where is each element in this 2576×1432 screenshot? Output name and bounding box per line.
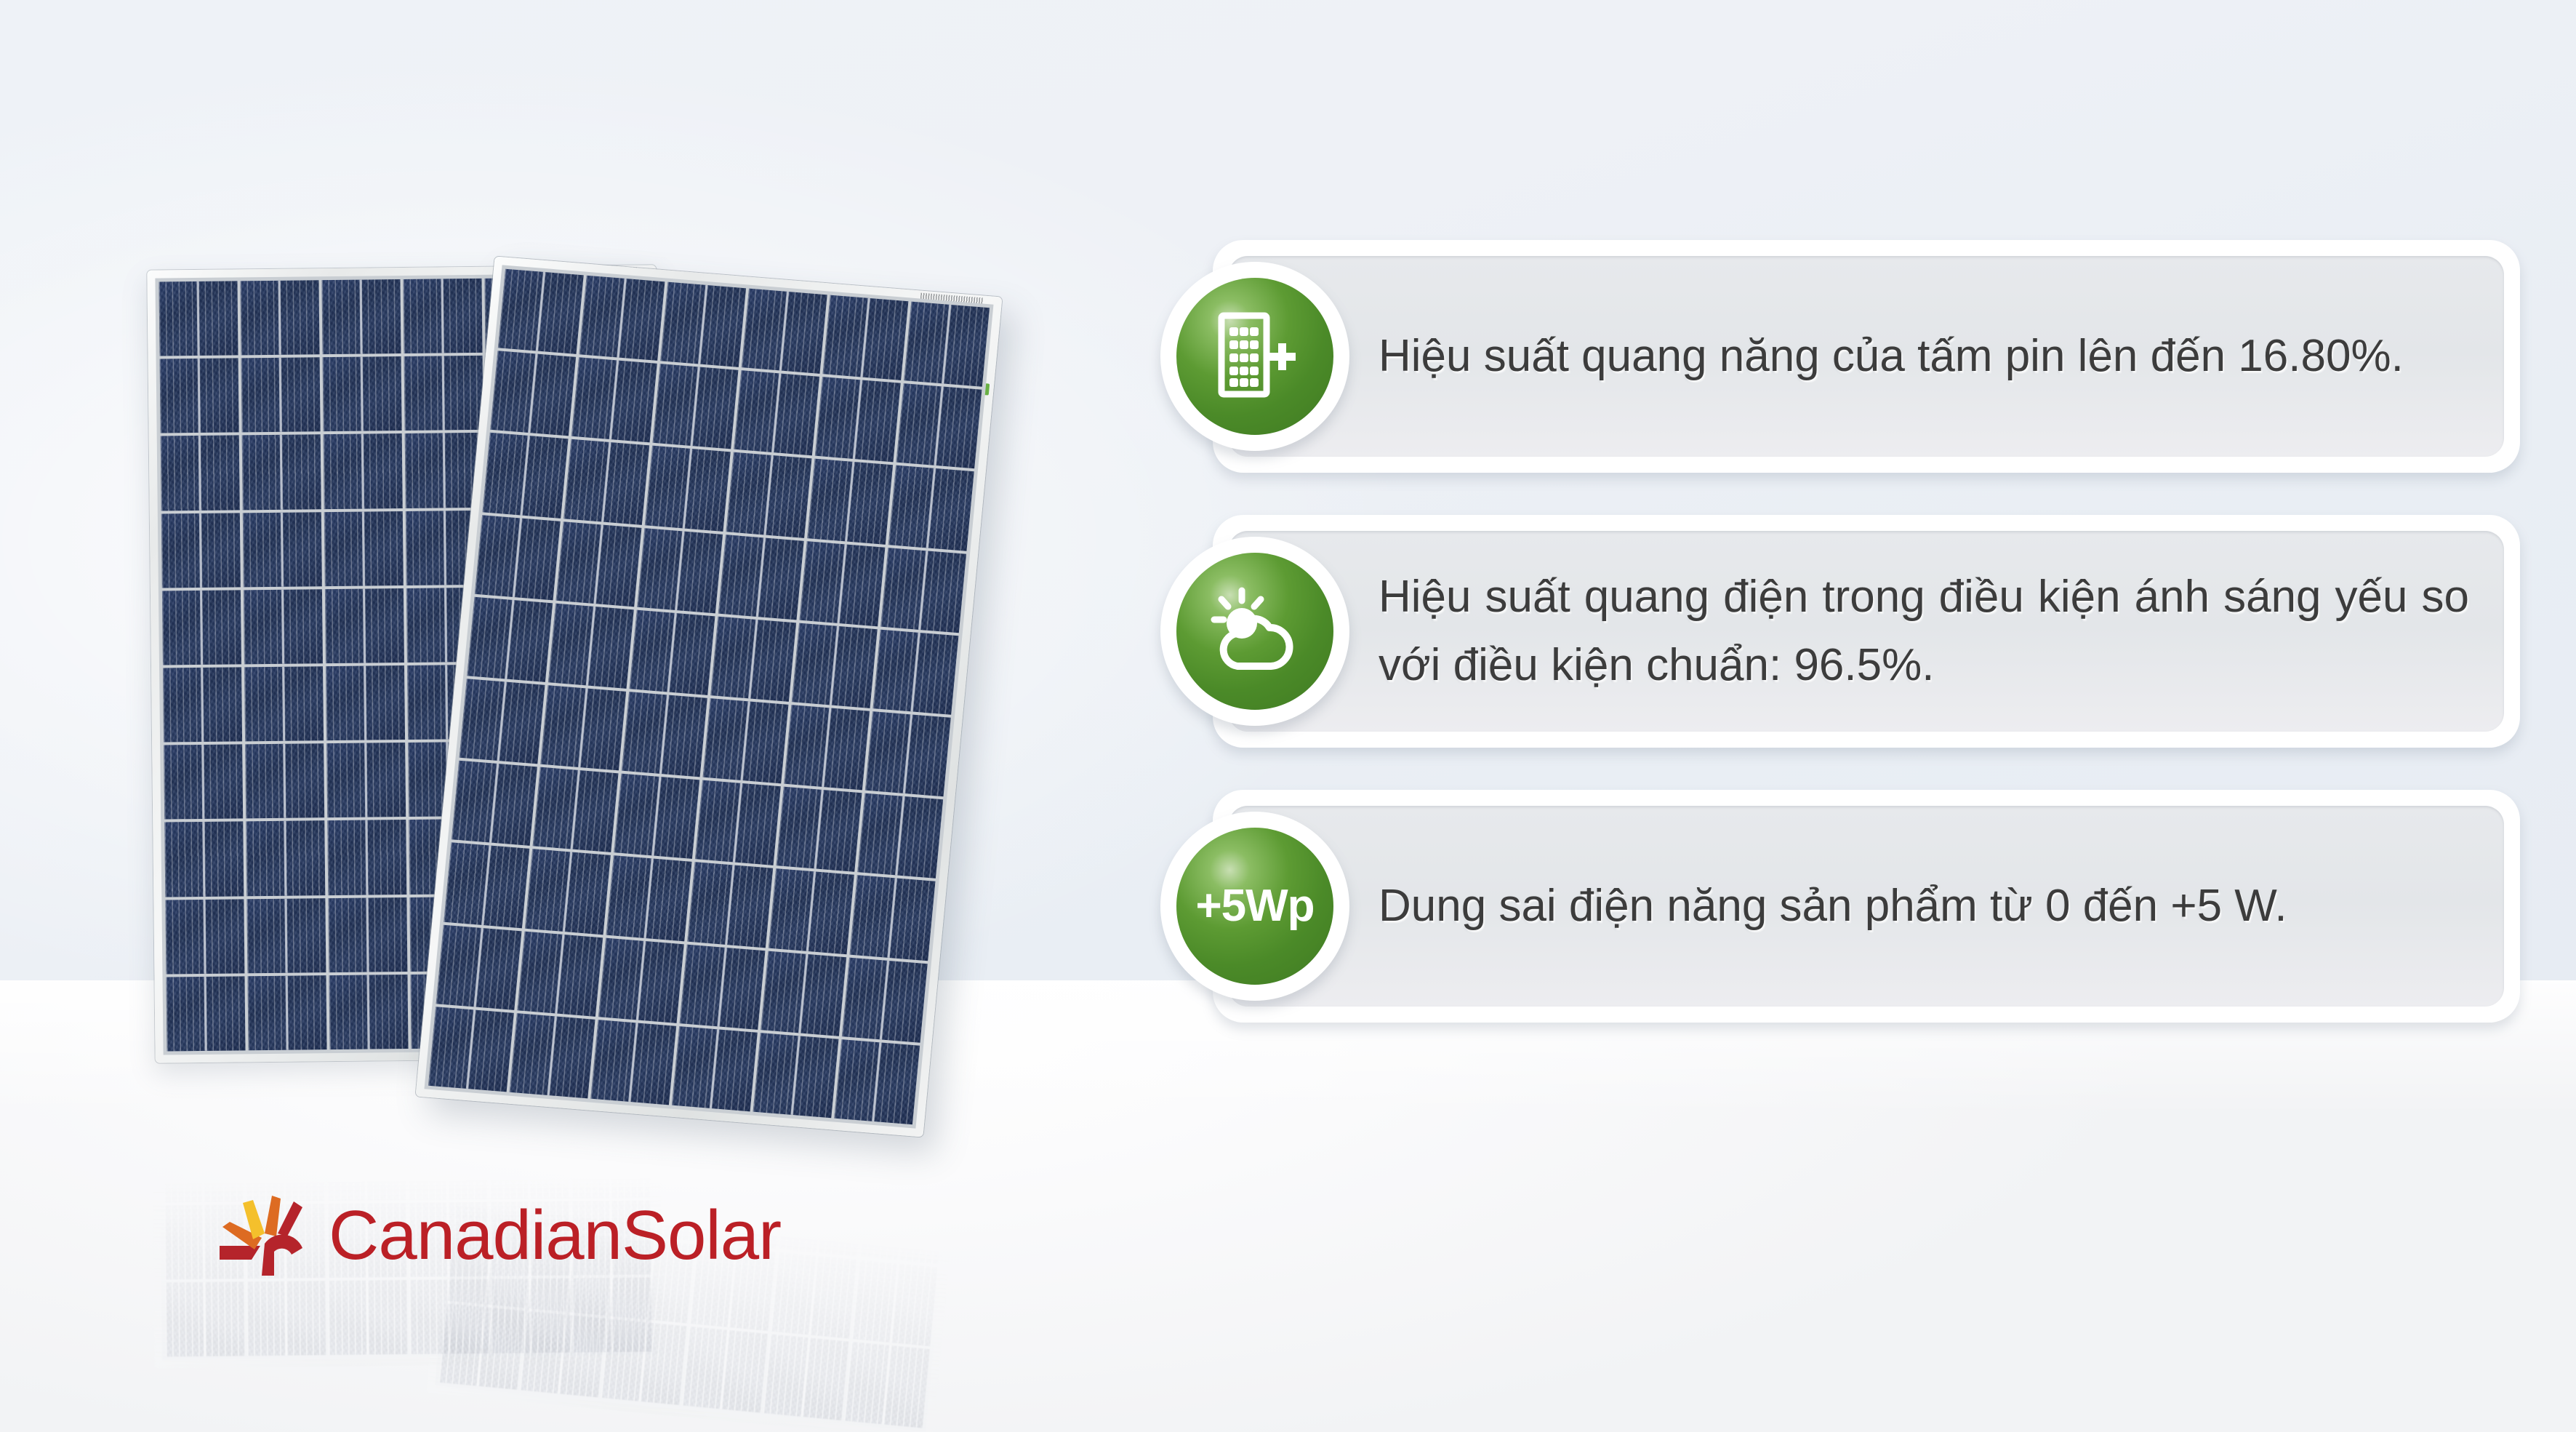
solar-cell [842,957,928,1042]
sun-behind-cloud-icon [1208,585,1301,678]
brand-wordmark: CanadianSolar [329,1201,781,1271]
solar-cell [680,944,766,1029]
solar-cell [517,931,603,1016]
solar-cell [807,459,893,544]
solar-cell [703,698,789,783]
solar-cell [687,863,773,948]
solar-cell [325,588,404,663]
solar-cell [525,849,611,935]
solar-cell [822,295,908,380]
solar-cell [164,745,243,820]
solar-cell [428,1007,514,1092]
solar-cell [606,856,692,941]
solar-cell [857,793,943,879]
brand-logo: CanadianSolar [218,1193,781,1279]
solar-cell [571,357,657,442]
badge-disc [1176,278,1333,435]
solar-cell [160,359,239,433]
solar-cell [324,511,404,586]
solar-cell [598,937,684,1023]
solar-cell [579,276,665,361]
solar-cell [652,364,738,449]
solar-cell [872,629,958,714]
slide-canvas: CanadianSolar Hiệu suất quang năng của t… [0,0,2576,1432]
solar-cell [323,356,402,431]
feature-card[interactable]: Hiệu suất quang điện trong điều kiện ánh… [1160,515,2520,748]
solar-cell [896,383,982,468]
solar-panel-front [416,257,1003,1137]
solar-cell [742,289,827,374]
solar-cell [718,535,804,620]
solar-cell [404,356,483,431]
solar-cell [163,667,242,742]
solar-cell [326,743,406,817]
solar-cell [321,279,401,354]
solar-cell [761,951,846,1036]
solar-cell [244,589,323,664]
solar-cell [540,685,626,770]
feature-text: Hiệu suất quang điện trong điều kiện ánh… [1379,563,2469,700]
solar-cell [444,843,529,928]
solar-cell [475,515,561,600]
feature-card[interactable]: Hiệu suất quang năng của tấm pin lên đến… [1160,240,2520,473]
solar-cell [880,548,966,633]
feature-badge [1160,537,1349,726]
solar-cell [166,976,245,1051]
badge-disc: +5Wp [1176,828,1333,985]
solar-cell [460,679,545,764]
solar-cell [161,436,240,511]
sunburst-icon [218,1193,310,1279]
solar-cell [247,975,326,1050]
solar-cell [792,623,878,708]
solar-cell [622,692,707,777]
solar-cell [329,975,408,1049]
solar-cell [246,821,325,896]
solar-cell [556,521,642,607]
solar-cell [161,513,241,588]
solar-cell [436,924,522,1009]
feature-text: Dung sai điện năng sản phẩm từ 0 đến +5 … [1379,872,2469,940]
solar-cell [590,1020,676,1105]
solar-cell [726,452,811,537]
solar-cell [834,1039,920,1124]
solar-cell [533,767,619,852]
solar-cell [815,377,901,462]
solar-cell [244,666,324,741]
feature-card[interactable]: Dung sai điện năng sản phẩm từ 0 đến +5 … [1160,790,2520,1023]
feature-badge: +5Wp [1160,812,1349,1001]
solar-cell [672,1026,758,1111]
solar-cell [246,898,326,973]
solar-cell [245,743,324,818]
solar-cell [563,439,649,524]
feature-badge [1160,262,1349,451]
solar-cell [660,282,746,367]
solar-cell [498,269,584,354]
solar-cell [548,603,634,688]
solar-cell [328,897,407,972]
solar-cell [162,590,241,665]
solar-cell [403,279,482,353]
solar-cell [483,433,569,518]
solar-cell [242,435,321,510]
solar-cell [799,541,885,626]
solar-cell [710,616,796,701]
solar-cell [645,446,731,531]
solar-cell [327,820,406,895]
solar-cell [904,302,990,387]
solar-cell [243,512,322,587]
solar-cell [490,351,576,436]
solar-cell [865,711,951,796]
solar-cell [734,370,819,455]
solar-cell [241,357,321,432]
solar-cell [850,876,936,961]
solar-cell [769,869,854,954]
solar-cell [777,787,862,872]
solar-cell [326,665,405,740]
solar-cell [510,1013,595,1098]
solar-cell [164,822,244,897]
solar-cell [159,281,238,356]
solar-cell [452,761,537,846]
solar-cell [753,1033,839,1118]
solar-cell [888,465,974,551]
solar-panel-plus-icon [1208,310,1301,403]
feature-text: Hiệu suất quang năng của tấm pin lên đến… [1379,322,2469,391]
solar-cell [637,528,723,613]
power-tolerance-label: +5Wp [1195,884,1314,929]
solar-cell [695,780,781,865]
solar-cell [630,609,715,695]
feature-card-list: Hiệu suất quang năng của tấm pin lên đến… [1160,240,2520,1065]
solar-cell [467,597,553,682]
solar-cell [784,705,870,790]
badge-disc [1176,553,1333,710]
solar-cell [165,899,244,974]
solar-cell [240,280,319,355]
solar-cell [614,774,699,859]
solar-cell [324,433,403,508]
